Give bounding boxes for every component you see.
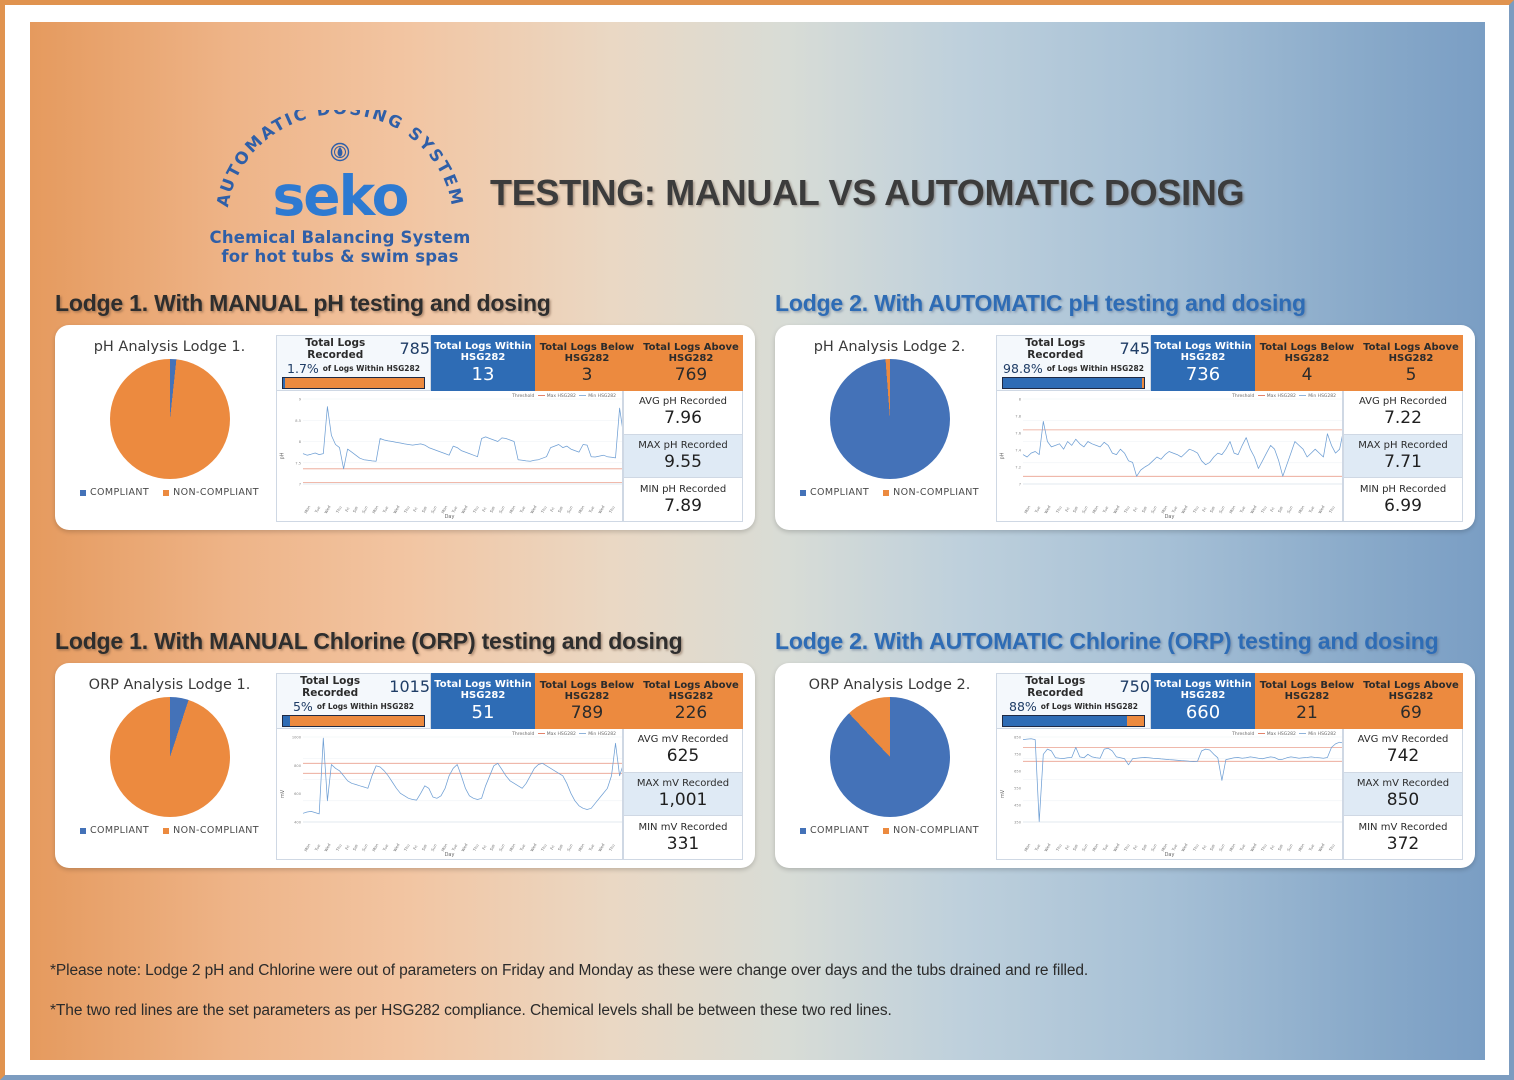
legend-line-max <box>538 395 545 396</box>
x-tick: Sun <box>1149 505 1157 514</box>
x-tick: Wed <box>1112 504 1121 514</box>
kpi-within: Total Logs Within HSG282 736 <box>1151 335 1255 391</box>
kpi-above-value: 226 <box>640 703 742 723</box>
kpi-below-label: Total Logs Below HSG282 <box>1256 680 1358 702</box>
kpi-below-label: Total Logs Below HSG282 <box>1256 342 1358 364</box>
legend-line-min <box>1299 395 1306 396</box>
x-tick: Wed <box>1180 842 1189 852</box>
dashboard-1: Total Logs Recorded 745 98.8% of Logs Wi… <box>992 335 1463 522</box>
legend-swatch-non-compliant <box>883 828 889 834</box>
x-tick: Wed <box>1180 504 1189 514</box>
legend-swatch-compliant <box>800 490 806 496</box>
legend-compliant: COMPLIANT <box>800 825 869 836</box>
x-tick: Tue <box>382 505 390 513</box>
pct-value: 88% <box>1009 699 1037 714</box>
x-tick: Sat <box>557 505 564 513</box>
chart-row-2: Threshold Max HSG282 Min HSG282 mV 10008… <box>276 729 743 860</box>
x-tick: Mon <box>303 505 311 515</box>
x-tick: Wed <box>1249 504 1258 514</box>
compliance-progress-fill <box>283 716 290 726</box>
x-tick: Mon <box>577 843 585 853</box>
x-axis-title: Day <box>1165 514 1175 520</box>
x-tick: Wed <box>324 504 333 514</box>
kpi-below-value: 4 <box>1256 365 1358 385</box>
x-tick: Sat <box>1277 505 1284 513</box>
x-tick: Tue <box>1239 843 1247 851</box>
kpi-above: Total Logs Above HSG282 69 <box>1359 673 1463 729</box>
x-tick: Fri <box>412 844 419 851</box>
y-axis-title: pH <box>999 453 1005 460</box>
x-tick: Sat <box>1208 843 1215 851</box>
legend-non-compliant: NON-COMPLIANT <box>163 825 259 836</box>
svg-text:400: 400 <box>294 821 302 825</box>
x-tick: Sat <box>352 843 359 851</box>
kpi-within-label: Total Logs Within HSG282 <box>1152 341 1254 363</box>
svg-text:7: 7 <box>1019 483 1021 487</box>
x-tick: Thu <box>334 843 342 852</box>
svg-text:1000: 1000 <box>292 736 302 740</box>
compliance-progress-fill <box>283 378 285 388</box>
total-logs-value: 750 <box>1119 677 1150 696</box>
kpi-above-label: Total Logs Above HSG282 <box>640 680 742 702</box>
x-tick: Sun <box>1218 505 1226 514</box>
kpi-total-logs: Total Logs Recorded 750 88% of Logs With… <box>996 673 1151 729</box>
pct-value: 5% <box>293 699 313 714</box>
x-tick: Wed <box>460 504 469 514</box>
pct-value: 1.7% <box>287 361 319 376</box>
x-tick: Sat <box>1208 505 1215 513</box>
legend-swatch-compliant <box>80 828 86 834</box>
kpi-total-logs: Total Logs Recorded 785 1.7% of Logs Wit… <box>276 335 431 391</box>
legend-swatch-non-compliant <box>163 828 169 834</box>
x-tick: Thu <box>471 505 479 514</box>
compliance-progress-bar <box>1002 377 1145 389</box>
x-tick: Thu <box>1260 843 1268 852</box>
x-tick: Mon <box>577 505 585 515</box>
stat-1: MAX mV Recorded 850 <box>1343 773 1463 817</box>
svg-text:8.5: 8.5 <box>295 419 301 423</box>
x-tick: Wed <box>324 842 333 852</box>
line-chart: Threshold Max HSG282 Min HSG282 mV 10008… <box>276 729 623 860</box>
x-tick: Mon <box>1091 505 1099 515</box>
x-tick: Sun <box>1286 505 1294 514</box>
total-logs-label: Total Logs Recorded <box>277 675 383 699</box>
x-axis-ticks: MonTueWedThuFriSatSunMonTueWedThuFriSatS… <box>303 507 616 512</box>
kpi-above-value: 769 <box>640 365 742 385</box>
section-heading-1: Lodge 2. With AUTOMATIC pH testing and d… <box>775 290 1475 317</box>
x-tick: Sun <box>429 843 437 852</box>
compliance-progress-bar <box>282 715 425 727</box>
stat-label: AVG mV Recorded <box>1358 734 1449 745</box>
x-tick: Mon <box>1160 843 1168 853</box>
x-tick: Wed <box>392 842 401 852</box>
x-tick: Fri <box>481 506 488 513</box>
pie-legend: COMPLIANT NON-COMPLIANT <box>80 487 259 498</box>
stat-label: MIN pH Recorded <box>640 484 726 495</box>
x-tick: Tue <box>1170 505 1178 513</box>
stat-label: AVG mV Recorded <box>638 734 729 745</box>
x-tick: Fri <box>344 506 351 513</box>
analysis-card-0: pH Analysis Lodge 1. COMPLIANT NON-COMPL… <box>55 325 755 530</box>
dashboard-0: Total Logs Recorded 785 1.7% of Logs Wit… <box>272 335 743 522</box>
kpi-below-label: Total Logs Below HSG282 <box>536 342 638 364</box>
x-tick: Wed <box>1044 504 1053 514</box>
section-lodge2-orp: Lodge 2. With AUTOMATIC Chlorine (ORP) t… <box>775 628 1475 868</box>
legend-line-max <box>1258 395 1265 396</box>
x-axis-title: Day <box>445 852 455 858</box>
stat-2: MIN mV Recorded 372 <box>1343 816 1463 860</box>
x-tick: Sun <box>1081 843 1089 852</box>
x-tick: Wed <box>529 504 538 514</box>
kpi-within-value: 660 <box>1152 702 1254 723</box>
x-tick: Sun <box>361 505 369 514</box>
stats-column-2: AVG mV Recorded 625 MAX mV Recorded 1,00… <box>623 729 743 860</box>
x-tick: Fri <box>1132 844 1139 851</box>
kpi-row-2: Total Logs Recorded 1015 5% of Logs With… <box>276 673 743 729</box>
x-tick: Sat <box>488 505 495 513</box>
svg-text:7.5: 7.5 <box>295 461 301 465</box>
stat-value: 1,001 <box>659 790 708 810</box>
logo-arc-graphic: AUTOMATIC DOSING SYSTEM seko <box>205 110 475 230</box>
legend-label-non-compliant: NON-COMPLIANT <box>893 825 979 836</box>
x-tick: Fri <box>1269 844 1276 851</box>
legend-line-max <box>538 733 545 734</box>
x-axis-ticks: MonTueWedThuFriSatSunMonTueWedThuFriSatS… <box>1023 507 1336 512</box>
x-tick: Thu <box>1054 843 1062 852</box>
x-tick: Sat <box>1277 843 1284 851</box>
x-tick: Tue <box>450 843 458 851</box>
x-tick: Sun <box>566 505 574 514</box>
pie-chart <box>110 359 230 479</box>
x-tick: Thu <box>1260 505 1268 514</box>
x-tick: Mon <box>1091 843 1099 853</box>
pct-row: 98.8% of Logs Within HSG282 <box>997 361 1150 376</box>
x-tick: Mon <box>1228 843 1236 853</box>
analysis-card-3: ORP Analysis Lodge 2. COMPLIANT NON-COMP… <box>775 663 1475 868</box>
kpi-below-value: 21 <box>1256 703 1358 723</box>
svg-text:7.4: 7.4 <box>1015 449 1021 453</box>
y-axis-title: pH <box>279 453 285 460</box>
stat-value: 7.22 <box>1384 408 1422 428</box>
svg-text:7.8: 7.8 <box>1015 415 1021 419</box>
legend-non-compliant: NON-COMPLIANT <box>163 487 259 498</box>
line-chart: Threshold Max HSG282 Min HSG282 pH 87.87… <box>996 391 1343 522</box>
x-axis-title: Day <box>445 514 455 520</box>
kpi-above: Total Logs Above HSG282 769 <box>639 335 743 391</box>
total-logs-label: Total Logs Recorded <box>997 337 1113 361</box>
x-tick: Fri <box>1269 506 1276 513</box>
pie-block-3: ORP Analysis Lodge 2. COMPLIANT NON-COMP… <box>787 673 992 860</box>
x-tick: Wed <box>1317 842 1326 852</box>
pct-caption: of Logs Within HSG282 <box>1047 364 1144 373</box>
stats-column-1: AVG pH Recorded 7.22 MAX pH Recorded 7.7… <box>1343 391 1463 522</box>
kpi-below: Total Logs Below HSG282 21 <box>1255 673 1359 729</box>
stat-value: 7.71 <box>1384 452 1422 472</box>
total-logs-value: 785 <box>399 339 430 358</box>
pie-chart <box>830 697 950 817</box>
x-axis-title: Day <box>1165 852 1175 858</box>
section-lodge1-orp: Lodge 1. With MANUAL Chlorine (ORP) test… <box>55 628 755 868</box>
x-tick: Sun <box>1218 843 1226 852</box>
legend-label-non-compliant: NON-COMPLIANT <box>893 487 979 498</box>
x-tick: Thu <box>1123 843 1131 852</box>
pie-title: pH Analysis Lodge 2. <box>814 339 966 355</box>
x-tick: Mon <box>1228 505 1236 515</box>
svg-text:450: 450 <box>1014 804 1022 808</box>
pie-legend: COMPLIANT NON-COMPLIANT <box>800 487 979 498</box>
x-tick: Sat <box>1072 843 1079 851</box>
stat-label: MAX pH Recorded <box>1358 440 1448 451</box>
kpi-within: Total Logs Within HSG282 13 <box>431 335 535 391</box>
legend-line-max <box>1258 733 1265 734</box>
legend-swatch-compliant <box>80 490 86 496</box>
compliance-progress-bar <box>282 377 425 389</box>
svg-text:8: 8 <box>1019 398 1022 402</box>
stat-value: 372 <box>1387 834 1419 854</box>
x-tick: Sun <box>1286 843 1294 852</box>
x-tick: Tue <box>314 505 322 513</box>
legend-label-non-compliant: NON-COMPLIANT <box>173 487 259 498</box>
x-tick: Sun <box>1149 843 1157 852</box>
x-tick: Tue <box>1034 843 1042 851</box>
legend-compliant: COMPLIANT <box>80 825 149 836</box>
x-tick: Sun <box>361 843 369 852</box>
x-tick: Thu <box>540 843 548 852</box>
stat-value: 7.89 <box>664 496 702 516</box>
x-tick: Tue <box>382 843 390 851</box>
section-lodge2-ph: Lodge 2. With AUTOMATIC pH testing and d… <box>775 290 1475 530</box>
stat-1: MAX pH Recorded 7.71 <box>1343 435 1463 479</box>
kpi-within: Total Logs Within HSG282 660 <box>1151 673 1255 729</box>
row-ph: Lodge 1. With MANUAL pH testing and dosi… <box>30 290 1485 628</box>
stats-column-0: AVG pH Recorded 7.96 MAX pH Recorded 9.5… <box>623 391 743 522</box>
legend-non-compliant: NON-COMPLIANT <box>883 825 979 836</box>
line-chart: Threshold Max HSG282 Min HSG282 mV 85075… <box>996 729 1343 860</box>
x-tick: Mon <box>371 843 379 853</box>
kpi-above: Total Logs Above HSG282 5 <box>1359 335 1463 391</box>
stat-value: 331 <box>667 834 699 854</box>
x-tick: Sat <box>352 505 359 513</box>
x-tick: Tue <box>519 843 527 851</box>
total-logs-row: Total Logs Recorded 1015 <box>277 674 430 699</box>
x-tick: Tue <box>1102 843 1110 851</box>
stat-2: MIN mV Recorded 331 <box>623 816 743 860</box>
x-tick: Fri <box>1064 506 1071 513</box>
legend-label-compliant: COMPLIANT <box>810 825 869 836</box>
kpi-within-value: 51 <box>432 702 534 723</box>
legend-compliant: COMPLIANT <box>800 487 869 498</box>
stat-1: MAX pH Recorded 9.55 <box>623 435 743 479</box>
kpi-above-label: Total Logs Above HSG282 <box>640 342 742 364</box>
x-tick: Thu <box>1328 843 1336 852</box>
section-lodge1-ph: Lodge 1. With MANUAL pH testing and dosi… <box>55 290 755 530</box>
legend-swatch-compliant <box>800 828 806 834</box>
stat-label: AVG pH Recorded <box>1359 396 1447 407</box>
compliance-progress-fill <box>1003 716 1127 726</box>
droplet-emblem <box>332 144 349 161</box>
kpi-within-value: 736 <box>1152 364 1254 385</box>
x-tick: Mon <box>1297 843 1305 853</box>
x-tick: Tue <box>450 505 458 513</box>
pct-value: 98.8% <box>1003 361 1043 376</box>
kpi-within-label: Total Logs Within HSG282 <box>1152 679 1254 701</box>
kpi-below: Total Logs Below HSG282 3 <box>535 335 639 391</box>
stat-value: 6.99 <box>1384 496 1422 516</box>
svg-text:seko: seko <box>273 164 408 228</box>
x-tick: Sun <box>429 505 437 514</box>
legend-swatch-non-compliant <box>883 490 889 496</box>
x-tick: Fri <box>1201 506 1208 513</box>
total-logs-label: Total Logs Recorded <box>277 337 393 361</box>
total-logs-row: Total Logs Recorded 785 <box>277 336 430 361</box>
svg-text:350: 350 <box>1014 821 1022 825</box>
kpi-above-value: 69 <box>1360 703 1462 723</box>
stat-value: 742 <box>1387 746 1419 766</box>
legend-line-min <box>579 733 586 734</box>
x-tick: Wed <box>597 842 606 852</box>
stat-1: MAX mV Recorded 1,001 <box>623 773 743 817</box>
logo-tagline-line1: Chemical Balancing System <box>205 228 475 247</box>
pie-block-0: pH Analysis Lodge 1. COMPLIANT NON-COMPL… <box>67 335 272 522</box>
total-logs-value: 745 <box>1119 339 1150 358</box>
pie-chart <box>110 697 230 817</box>
stat-label: MIN pH Recorded <box>1360 484 1446 495</box>
analysis-card-1: pH Analysis Lodge 2. COMPLIANT NON-COMPL… <box>775 325 1475 530</box>
section-heading-3: Lodge 2. With AUTOMATIC Chlorine (ORP) t… <box>775 628 1475 655</box>
section-heading-0: Lodge 1. With MANUAL pH testing and dosi… <box>55 290 755 317</box>
kpi-total-logs: Total Logs Recorded 1015 5% of Logs With… <box>276 673 431 729</box>
kpi-row-0: Total Logs Recorded 785 1.7% of Logs Wit… <box>276 335 743 391</box>
poster-background: AUTOMATIC DOSING SYSTEM seko Chemical Ba… <box>30 22 1485 1060</box>
stat-label: MIN mV Recorded <box>638 822 727 833</box>
kpi-total-logs: Total Logs Recorded 745 98.8% of Logs Wi… <box>996 335 1151 391</box>
logo-tagline-line2: for hot tubs & swim spas <box>205 247 475 266</box>
kpi-below: Total Logs Below HSG282 789 <box>535 673 639 729</box>
x-tick: Thu <box>403 843 411 852</box>
pie-legend: COMPLIANT NON-COMPLIANT <box>80 825 259 836</box>
stat-label: MAX pH Recorded <box>638 440 728 451</box>
chart-row-1: Threshold Max HSG282 Min HSG282 pH 87.87… <box>996 391 1463 522</box>
x-tick: Mon <box>1297 505 1305 515</box>
stat-0: AVG mV Recorded 625 <box>623 729 743 773</box>
total-logs-row: Total Logs Recorded 745 <box>997 336 1150 361</box>
x-tick: Tue <box>1102 505 1110 513</box>
x-tick: Wed <box>529 842 538 852</box>
x-tick: Sat <box>420 843 427 851</box>
stats-column-3: AVG mV Recorded 742 MAX mV Recorded 850 … <box>1343 729 1463 860</box>
x-tick: Wed <box>392 504 401 514</box>
x-tick: Thu <box>1123 505 1131 514</box>
footnote-2: *The two red lines are the set parameter… <box>50 1002 1250 1020</box>
kpi-above-label: Total Logs Above HSG282 <box>1360 342 1462 364</box>
total-logs-value: 1015 <box>389 677 430 696</box>
x-tick: Fri <box>1201 844 1208 851</box>
kpi-above: Total Logs Above HSG282 226 <box>639 673 743 729</box>
x-tick: Fri <box>549 506 556 513</box>
svg-text:650: 650 <box>1014 770 1022 774</box>
x-tick: Fri <box>344 844 351 851</box>
kpi-below: Total Logs Below HSG282 4 <box>1255 335 1359 391</box>
pct-caption: of Logs Within HSG282 <box>317 702 414 711</box>
sections-grid: Lodge 1. With MANUAL pH testing and dosi… <box>30 290 1485 966</box>
stat-2: MIN pH Recorded 6.99 <box>1343 478 1463 522</box>
x-tick: Mon <box>440 843 448 853</box>
svg-text:550: 550 <box>1014 787 1022 791</box>
compliance-progress-fill <box>1003 378 1142 388</box>
legend-label-compliant: COMPLIANT <box>810 487 869 498</box>
analysis-card-2: ORP Analysis Lodge 1. COMPLIANT NON-COMP… <box>55 663 755 868</box>
x-tick: Tue <box>587 843 595 851</box>
kpi-below-value: 789 <box>536 703 638 723</box>
x-tick: Mon <box>508 843 516 853</box>
total-logs-label: Total Logs Recorded <box>997 675 1113 699</box>
stat-value: 9.55 <box>664 452 702 472</box>
pie-block-1: pH Analysis Lodge 2. COMPLIANT NON-COMPL… <box>787 335 992 522</box>
x-tick: Fri <box>549 844 556 851</box>
x-axis-ticks: MonTueWedThuFriSatSunMonTueWedThuFriSatS… <box>1023 845 1336 850</box>
x-tick: Tue <box>1034 505 1042 513</box>
svg-text:7.6: 7.6 <box>1015 432 1021 436</box>
kpi-within: Total Logs Within HSG282 51 <box>431 673 535 729</box>
x-tick: Sat <box>1140 843 1147 851</box>
x-tick: Sat <box>420 505 427 513</box>
svg-text:850: 850 <box>1014 736 1022 740</box>
pie-block-2: ORP Analysis Lodge 1. COMPLIANT NON-COMP… <box>67 673 272 860</box>
kpi-within-value: 13 <box>432 364 534 385</box>
total-logs-row: Total Logs Recorded 750 <box>997 674 1150 699</box>
x-tick: Thu <box>471 843 479 852</box>
pct-row: 88% of Logs Within HSG282 <box>997 699 1150 714</box>
kpi-within-label: Total Logs Within HSG282 <box>432 341 534 363</box>
kpi-above-label: Total Logs Above HSG282 <box>1360 680 1462 702</box>
x-tick: Wed <box>460 842 469 852</box>
stat-value: 850 <box>1387 790 1419 810</box>
chart-row-0: Threshold Max HSG282 Min HSG282 pH 98.58… <box>276 391 743 522</box>
x-tick: Mon <box>303 843 311 853</box>
page-title: TESTING: MANUAL VS AUTOMATIC DOSING <box>490 172 1244 214</box>
legend-swatch-non-compliant <box>163 490 169 496</box>
stat-value: 625 <box>667 746 699 766</box>
pie-legend: COMPLIANT NON-COMPLIANT <box>800 825 979 836</box>
x-tick: Sat <box>557 843 564 851</box>
row-orp: Lodge 1. With MANUAL Chlorine (ORP) test… <box>30 628 1485 966</box>
footnote-1: *Please note: Lodge 2 pH and Chlorine we… <box>50 962 1250 980</box>
x-tick: Fri <box>1064 844 1071 851</box>
legend-label-non-compliant: NON-COMPLIANT <box>173 825 259 836</box>
x-tick: Sat <box>1140 505 1147 513</box>
x-tick: Tue <box>1307 843 1315 851</box>
x-tick: Sun <box>566 843 574 852</box>
stat-label: MAX mV Recorded <box>1357 778 1449 789</box>
x-tick: Tue <box>587 505 595 513</box>
x-tick: Thu <box>1054 505 1062 514</box>
x-tick: Thu <box>1191 505 1199 514</box>
x-tick: Thu <box>608 505 616 514</box>
footnotes: *Please note: Lodge 2 pH and Chlorine we… <box>50 962 1250 1042</box>
x-tick: Tue <box>1170 843 1178 851</box>
x-tick: Fri <box>481 844 488 851</box>
svg-text:9: 9 <box>299 398 302 402</box>
section-heading-2: Lodge 1. With MANUAL Chlorine (ORP) test… <box>55 628 755 655</box>
x-tick: Thu <box>1328 505 1336 514</box>
pie-title: ORP Analysis Lodge 2. <box>809 677 971 693</box>
y-axis-title: mV <box>1000 790 1006 798</box>
svg-text:750: 750 <box>1014 753 1022 757</box>
svg-text:7: 7 <box>299 483 301 487</box>
x-tick: Wed <box>1112 842 1121 852</box>
x-tick: Wed <box>1044 842 1053 852</box>
x-tick: Mon <box>1023 843 1031 853</box>
